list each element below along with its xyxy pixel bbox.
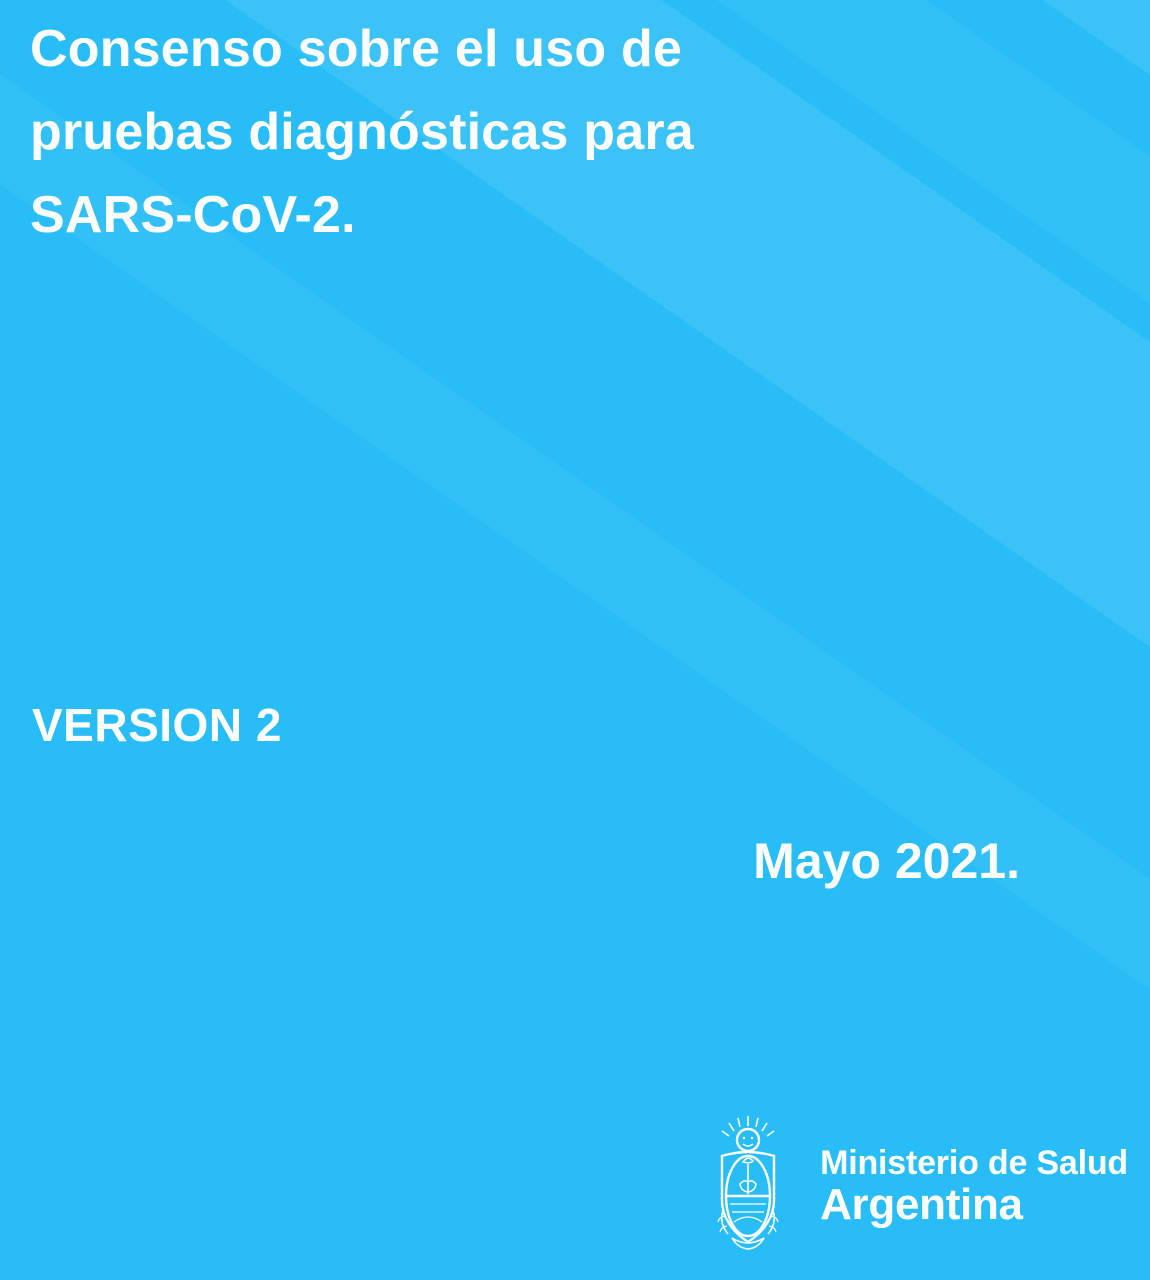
argentina-coat-of-arms-icon	[694, 1112, 802, 1262]
title-line-2: pruebas diagnósticas para	[30, 91, 1020, 174]
document-version: VERSION 2	[32, 698, 282, 752]
title-line-3: SARS-CoV-2.	[30, 174, 1020, 257]
ministry-logo: Ministerio de Salud Argentina	[694, 1112, 1128, 1262]
ministry-label: Ministerio de Salud	[820, 1146, 1128, 1182]
document-title: Consenso sobre el uso de pruebas diagnós…	[30, 8, 1020, 258]
country-label: Argentina	[820, 1182, 1128, 1228]
document-cover-page: Consenso sobre el uso de pruebas diagnós…	[0, 0, 1150, 1280]
ministry-logo-text: Ministerio de Salud Argentina	[820, 1146, 1128, 1228]
title-line-1: Consenso sobre el uso de	[30, 8, 1020, 91]
document-date: Mayo 2021.	[753, 832, 1020, 890]
